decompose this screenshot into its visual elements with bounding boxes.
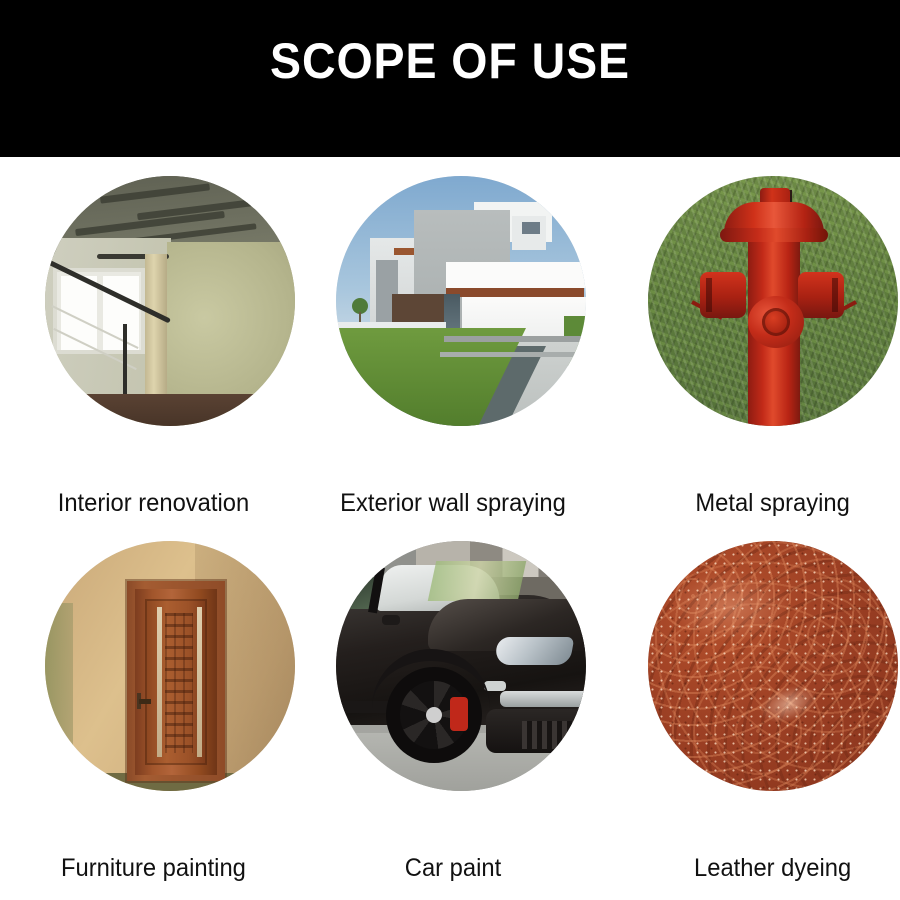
entry-step bbox=[440, 352, 586, 357]
page-title: SCOPE OF USE bbox=[32, 32, 869, 90]
leather-highlight bbox=[670, 571, 790, 641]
fire-hydrant-photo[interactable] bbox=[648, 176, 898, 426]
use-case-label: Interior renovation bbox=[11, 488, 296, 518]
door-frame bbox=[127, 581, 225, 781]
hydrant-front-outlet-inner bbox=[762, 308, 790, 336]
black-suv-illustration bbox=[336, 541, 586, 791]
door-panel bbox=[135, 589, 217, 775]
use-case-item-leather-dyeing[interactable]: Leather dyeing bbox=[615, 541, 900, 896]
door-carving-pattern bbox=[165, 613, 193, 753]
black-suv-photo[interactable] bbox=[336, 541, 586, 791]
modern-villa-photo[interactable] bbox=[336, 176, 586, 426]
scope-of-use-infographic: SCOPE OF USE bbox=[0, 0, 900, 900]
header-banner: SCOPE OF USE bbox=[0, 0, 900, 157]
entry-step bbox=[444, 336, 586, 342]
nozzle-ring bbox=[706, 278, 712, 312]
use-case-item-furniture-painting[interactable]: Furniture painting bbox=[12, 541, 312, 896]
use-case-grid: Interior renovation bbox=[0, 157, 900, 900]
red-leather-texture-photo[interactable] bbox=[648, 541, 898, 791]
modern-villa-illustration bbox=[336, 176, 586, 426]
use-case-label: Leather dyeing bbox=[630, 853, 900, 883]
car-headlight bbox=[494, 637, 575, 665]
door-trim-strip bbox=[197, 607, 202, 757]
curtain-shape bbox=[145, 254, 167, 399]
windshield-reflection bbox=[428, 561, 527, 601]
use-case-label: Car paint bbox=[311, 853, 596, 883]
wood-trim-band bbox=[446, 288, 584, 297]
wooden-door-photo[interactable] bbox=[45, 541, 295, 791]
hydrant-cap-lip bbox=[720, 228, 828, 242]
red-leather-illustration bbox=[648, 541, 898, 791]
interior-room-photo[interactable] bbox=[45, 176, 295, 426]
use-case-label: Exterior wall spraying bbox=[311, 488, 596, 518]
door-trim-strip bbox=[157, 607, 162, 757]
car-side-mirror bbox=[382, 615, 400, 625]
window-frame-shape bbox=[53, 268, 145, 354]
floor-shape bbox=[45, 394, 295, 426]
car-grille bbox=[500, 691, 586, 707]
hydrant-side-nozzle bbox=[798, 272, 844, 318]
car-wheel-hub bbox=[426, 707, 442, 723]
use-case-row-2: Furniture painting bbox=[0, 541, 900, 896]
use-case-row-1: Interior renovation bbox=[0, 176, 900, 531]
hydrant-side-nozzle bbox=[700, 272, 746, 318]
fire-hydrant-illustration bbox=[648, 176, 898, 426]
use-case-item-metal-spraying[interactable]: Metal spraying bbox=[615, 176, 900, 531]
building-white-slab bbox=[446, 262, 586, 288]
use-case-label: Metal spraying bbox=[630, 488, 900, 518]
wall-corner bbox=[45, 603, 73, 791]
use-case-item-interior-renovation[interactable]: Interior renovation bbox=[12, 176, 312, 531]
use-case-item-exterior-wall-spraying[interactable]: Exterior wall spraying bbox=[303, 176, 603, 531]
nozzle-ring bbox=[832, 278, 838, 312]
wooden-door-illustration bbox=[45, 541, 295, 791]
use-case-label: Furniture painting bbox=[11, 853, 296, 883]
car-bumper-vent bbox=[522, 721, 586, 749]
use-case-item-car-paint[interactable]: Car paint bbox=[303, 541, 603, 896]
door-handle bbox=[139, 699, 151, 704]
car-brake-caliper bbox=[450, 697, 468, 731]
building-window bbox=[522, 222, 540, 234]
interior-room-illustration bbox=[45, 176, 295, 426]
